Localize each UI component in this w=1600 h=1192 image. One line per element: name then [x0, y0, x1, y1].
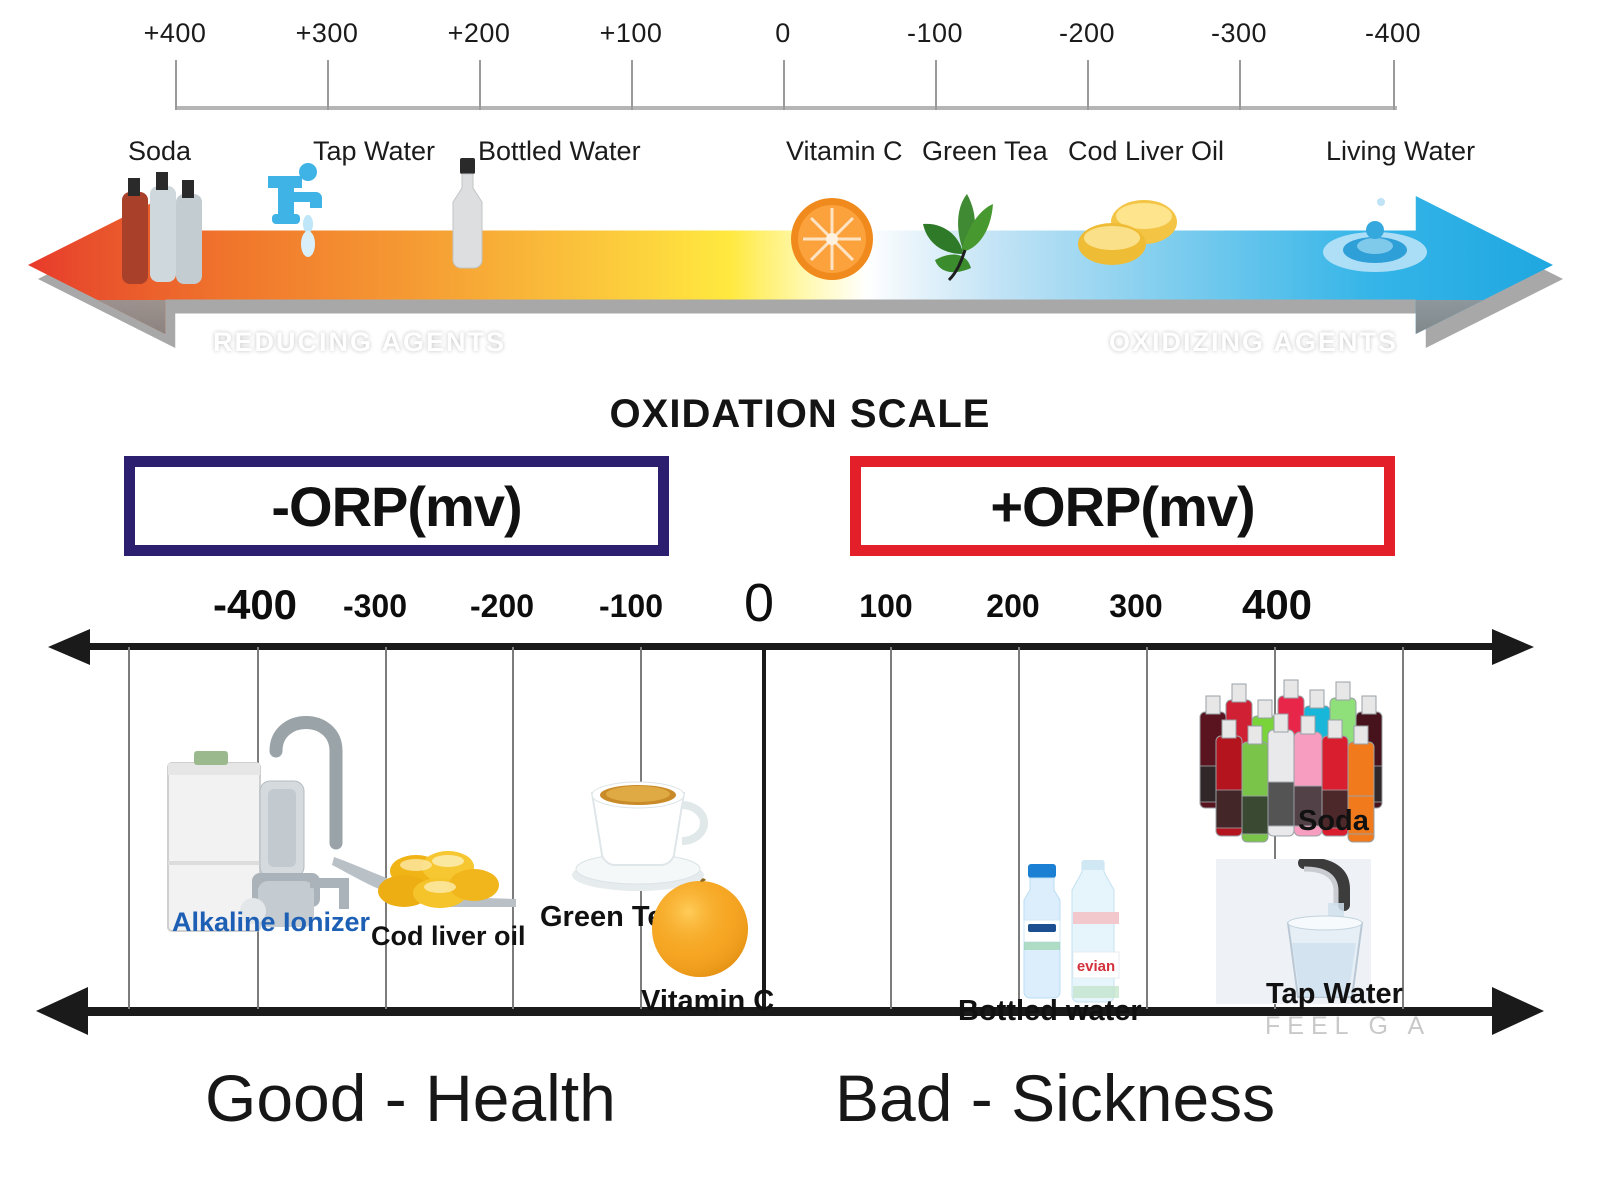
chart-tick-label-m400: -400	[213, 581, 297, 629]
top-axis-baseline	[175, 106, 1397, 110]
chart-tick-label-p100: 100	[859, 588, 912, 625]
chart-label-cod-liver-oil: Cod liver oil	[371, 921, 526, 952]
chart-tick-label-m300: -300	[343, 588, 407, 625]
top-tick-label-m400: -400	[1365, 18, 1421, 49]
gridline-m100	[512, 647, 514, 1009]
reducing-agents-label: REDUCING AGENTS	[213, 327, 506, 358]
svg-text:evian: evian	[1077, 958, 1115, 975]
top-tick-3	[631, 60, 633, 110]
top-tick-6	[1087, 60, 1089, 110]
top-item-label-living-water: Living Water	[1326, 136, 1475, 167]
gridline-m200	[385, 647, 387, 1009]
soda-bottles-icon	[110, 160, 220, 290]
bottle-icon	[440, 158, 494, 276]
top-axis-right-arrow-icon	[1492, 629, 1534, 665]
top-axis-left-arrow-icon	[48, 629, 90, 665]
chart-tick-label-m100: -100	[599, 588, 663, 625]
top-tick-4	[783, 60, 785, 110]
negative-orp-box: -ORP(mv)	[124, 456, 669, 556]
watermark-text: FEEL G A	[1265, 1012, 1431, 1041]
top-tick-2	[479, 60, 481, 110]
gridline-zero	[762, 647, 766, 1009]
top-tick-1	[327, 60, 329, 110]
orp-scale-chart: -400 -300 -200 -100 0 100 200 300 400	[0, 575, 1600, 1045]
faucet-icon	[258, 160, 338, 270]
top-tick-8	[1393, 60, 1395, 110]
top-tick-label-zero: 0	[775, 18, 791, 49]
bottled-water-icon: evian	[1010, 860, 1140, 1005]
top-tick-7	[1239, 60, 1241, 110]
top-item-label-green-tea: Green Tea	[922, 136, 1048, 167]
orange-slice-icon	[789, 196, 875, 282]
tea-leaf-icon	[905, 188, 1025, 288]
top-tick-0	[175, 60, 177, 110]
top-orp-band-panel: +400 +300 +200 +100 0 -100 -200 -300 -40…	[0, 0, 1600, 370]
gridline-p100	[890, 647, 892, 1009]
positive-orp-box: +ORP(mv)	[850, 456, 1395, 556]
cod-liver-oil-icon	[330, 835, 520, 915]
gridline-end	[1402, 647, 1404, 1009]
chart-tick-label-p300: 300	[1109, 588, 1162, 625]
top-tick-label-p400: +400	[144, 18, 207, 49]
water-droplet-icon	[1315, 196, 1435, 282]
chart-label-tap-water: Tap Water	[1266, 978, 1403, 1011]
bottom-axis-right-arrow-icon	[1492, 987, 1544, 1035]
gridline-m400	[128, 647, 130, 1009]
top-tick-label-p100: +100	[600, 18, 663, 49]
top-tick-label-p300: +300	[296, 18, 359, 49]
chart-tick-label-p200: 200	[986, 588, 1039, 625]
top-tick-label-m200: -200	[1059, 18, 1115, 49]
chart-tick-label-zero: 0	[744, 572, 774, 634]
negative-orp-label: -ORP(mv)	[271, 474, 521, 539]
top-tick-5	[935, 60, 937, 110]
chart-label-vitamin-c: Vitamin C	[641, 985, 774, 1018]
bottom-axis-left-arrow-icon	[36, 987, 88, 1035]
conclusion-bad-sickness: Bad - Sickness	[835, 1060, 1275, 1136]
page-title: OXIDATION SCALE	[0, 392, 1600, 437]
chart-label-bottled-water: Bottled water	[958, 995, 1142, 1028]
gridline-p300	[1146, 647, 1148, 1009]
top-tick-label-m100: -100	[907, 18, 963, 49]
top-tick-label-p200: +200	[448, 18, 511, 49]
chart-top-axis-line	[85, 643, 1495, 650]
positive-orp-label: +ORP(mv)	[990, 474, 1254, 539]
top-axis	[175, 58, 1397, 110]
top-item-label-vitamin-c: Vitamin C	[786, 136, 903, 167]
chart-label-soda: Soda	[1298, 805, 1369, 838]
oxidation-scale-infographic: +400 +300 +200 +100 0 -100 -200 -300 -40…	[0, 0, 1600, 1192]
conclusion-good-health: Good - Health	[205, 1060, 616, 1136]
orange-icon	[645, 871, 755, 981]
oxidizing-agents-label: OXIDIZING AGENTS	[1109, 327, 1398, 358]
oil-capsule-icon	[1072, 196, 1192, 268]
chart-tick-label-p400: 400	[1242, 581, 1312, 629]
top-item-label-bottled-water: Bottled Water	[478, 136, 641, 167]
top-tick-label-m300: -300	[1211, 18, 1267, 49]
top-item-label-cod-liver-oil: Cod Liver Oil	[1068, 136, 1224, 167]
chart-tick-label-m200: -200	[470, 588, 534, 625]
